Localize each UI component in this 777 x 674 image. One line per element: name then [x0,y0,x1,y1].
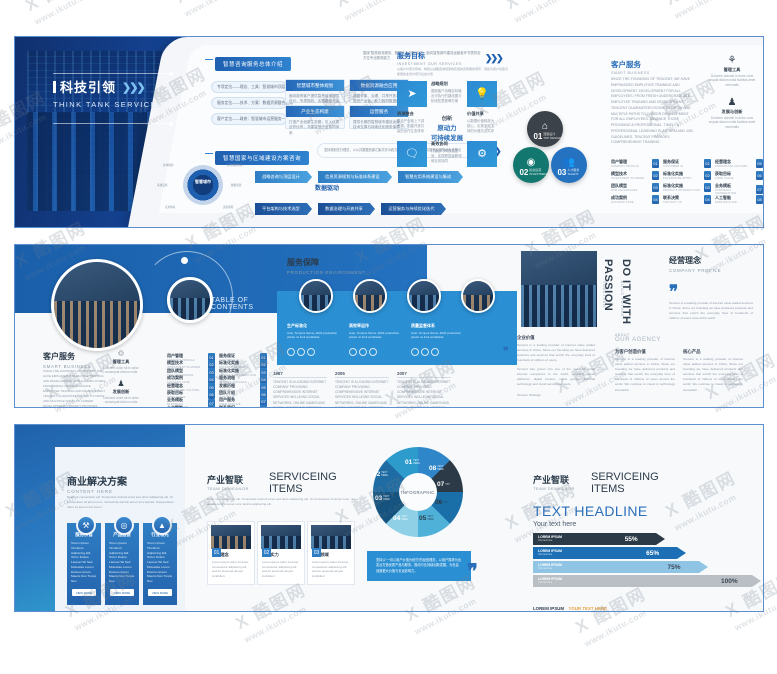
donut-label-06: 06TXT [435,499,448,506]
hub-node-2: 基础设施 [157,183,167,187]
agency-col2-title: 核心产品 [683,349,701,355]
goal-text-2: 高效协同打通部门间数据壁垒，实现跨层级跨领域业务协同 [431,141,463,164]
right-heading-cn: 产业智联 TEAM DEMEANOR [533,473,575,491]
hub-label: 智慧城市 [189,179,217,185]
list-item[interactable]: 经营理念CORPORATE CULTURE05 [715,159,763,168]
values-p2: Tencent has grown into one of the most i… [517,367,595,387]
hub-ring-outer [183,165,223,205]
chevrons-icon: ❯❯❯ [122,81,144,94]
hub-node-4: 应用体系 [165,205,175,209]
goal-card-0: ➤ [397,81,427,107]
band-item-2: 质量监督体系 Auto, Tempus Nams, 2022 productio… [411,323,463,361]
hero-rule-top [53,73,171,74]
production-photo-3 [461,279,495,313]
smart-icon-0: ♲ 管理工具 Dolorem dolor sit in dolor conseq… [99,349,143,375]
hero-accent-bar [53,81,56,93]
badge-02-label: 投资运营INVESTMENT [529,169,548,177]
badge-03: 👥 03 人才服务TALENT [551,147,587,183]
goals-lead: 以客户价值为导向，构建从战略咨询到落地实施的完整服务闭环，持续为客户创造可衡量的… [397,67,509,77]
slide-panel-3: 商业解决方案 CONTENT HERE Dolor sit consectetu… [14,424,764,612]
donut-label-07: 07TXT [437,481,450,488]
arrow-chip-2: 智慧应用系统建设与集成 [398,171,458,183]
arrow-chip-5: 运营服务与持续优化迭代 [381,203,441,215]
photo-card-badge-0: 01 [212,548,221,557]
vertical-slogan-small: BUILD FUTURE TOGETHER [595,281,631,327]
chart-footnote: LOREM IPSUM YOUR TEXT HERE "Lorem ipsum … [533,597,723,612]
year-block-0: 1987TENCENT IS A LEADING INTERNET COMPAN… [273,371,327,408]
solution-card-0: 服务宗旨 Torem Ipsum Tincidunt Adipiscing El… [67,523,101,605]
photo-card-2: 03 业务领域 Lorem ipsum dolor sit amet, cons… [307,521,355,585]
chart-bar: LOREM IPSUMYour text here55% [533,533,665,545]
donut-label-05: 05TEXTHERE [419,515,434,522]
hub-node-0: 总体规划 [163,163,173,167]
section1-pill-1: 服务定位——技术、方案：数据资源整合应用 [211,97,287,109]
agency-col1-title: 为客户创造价值 [615,349,646,355]
list-item[interactable]: 团队模型OUR ADVANTAGES03 [611,183,659,192]
list-item[interactable]: 模型技术INVESTMENT PLANNER02 [611,171,659,180]
production-heading: 服务保障 PRODUCTION ENVIRONMENT [287,257,366,275]
text-headline: TEXT HEADLINE Your text here [533,503,648,528]
company-profile-heading: 经营理念 COMPANY PROFILE [669,255,721,273]
photo-card-badge-2: 03 [312,548,321,557]
arrow-chip-3: 平台架构与技术选型 [255,203,307,215]
quote-mark-values: ❞ [503,349,509,356]
chart-bar-label: LOREM IPSUMYour text here [538,550,562,556]
badge-02: ◉ 02 投资运营INVESTMENT [513,147,549,183]
list-item[interactable]: 获取目标CORE VALUE06 [715,171,763,180]
values-p1: Tencent is a leading provider of interne… [517,343,595,363]
lightbulb-icon: 💡 [475,87,489,100]
section2-arrow-row-1: 战略咨询与顶层设计 信息资源规划与标准体系建设 智慧应用系统建设与集成 [255,165,458,183]
chart-bar-tip [699,561,708,573]
chart-bar: LOREM IPSUMYour text here75% [533,561,708,573]
people-icon: 👥 [563,157,575,168]
donut-label-02: 02TEXTHERE [373,471,388,478]
hub-node-3: 数据资源 [231,183,241,187]
badge-03-label: 人才服务TALENT [567,169,579,177]
agency-en-big: OUR AGENCY [615,337,661,343]
section1-tag: 智慧咨询服务总体介绍 [215,53,291,71]
network-icon: ⚘ [707,55,757,66]
arc-dot [181,257,188,264]
goals-heading: 服务目标 INVESTMENT OUR SERVICES [397,51,462,66]
night-city-photo [521,251,597,327]
production-photo-2 [407,279,441,313]
solution-card-1: 产品运营 Torem Ipsum Tincidunt Adipiscing El… [105,523,139,605]
watermark: X 酷图网www.ikutu.com [500,0,585,25]
smart-icon-1: ♟ 发展创新 Dolorem dolor sit in dolor conseq… [99,379,143,405]
donut-label-04: 04TEXTHERE [393,515,408,522]
chart-bar-tip [656,533,665,545]
customer-paragraph: SINCE THE FOUNDING OF TENCENT, WE HAVE E… [611,77,693,146]
section1-pill-2: 客户定位——政府：智慧城市运营服务一体化 [211,113,287,125]
chart-bar-value: 75% [668,564,681,571]
band-dots-0 [287,343,339,361]
hero-title-en: THINK TANK SERVICES [53,100,193,109]
chart-bar: LOREM IPSUMYour text here100% [533,575,761,587]
chart-bar: LOREM IPSUMYour text here65% [533,547,686,559]
home-icon: ⌂ [542,121,548,132]
chat-icon: 🗨 [405,147,419,160]
hero-title: 科技引领❯❯❯ THINK TANK SERVICES [53,77,193,109]
money-icon: ◉ [527,157,536,168]
chart-bar-value: 100% [721,578,738,585]
hub-node-5: 运营保障 [223,205,233,209]
goal-card-1: 💡 [467,81,497,107]
chart-bar-tip [752,575,761,587]
idea-icon: ♟ [99,379,143,388]
badge-01: ⌂ 01 顶层设计TOP DESIGN [527,111,563,147]
idea-icon: ♟ [707,97,757,108]
photo-card-badge-1: 02 [262,548,271,557]
quote-mark-icon: ❞ [467,567,478,578]
year-block-2: 2007TENCENT IS A LEADING INTERNET COMPAN… [397,371,451,408]
production-photo-0 [299,279,333,313]
band-item-0: 生产标准化 Auto, Tempus Nams, 2022 production… [287,323,339,361]
year-block-1: 2005TENCENT IS A LEADING INTERNET COMPAN… [335,371,389,408]
section1-pill-0: 专项定位——理念、工具：智慧城市顶层设计 [211,81,287,93]
agency-col2-p: Tencent is a leading provider of interne… [683,357,743,393]
chart-bar-label: LOREM IPSUMYour text here [538,578,562,584]
solution-lead: Dolor sit consectetur elit. Tempuslas do… [67,495,175,510]
quote-mark-profile: ❞ [669,287,678,297]
recycle-icon: ♲ [99,349,143,358]
donut-label-01: 01TEXTHERE [405,459,420,466]
hero-circle-photo-1 [51,259,143,351]
items-heading-en: SERVICEING ITEMS [269,471,337,495]
watermark: X 酷图网www.ikutu.com [660,0,745,21]
list-item[interactable]: 标准化实施ENTERPRISE SPIRIT02 [663,171,711,180]
section1-card-0: 智慧城市整体规划 面向政府客户提供智慧城市顶层设计、专项规划、实施路径与运营模式… [285,79,345,103]
chart-bar-tip [677,547,686,559]
goal-card-2: 🗨 [397,141,427,167]
goal-card-3: ⚙ [467,141,497,167]
company-profile-paragraph: Tencent is a leading provider of interne… [669,301,753,321]
section1-card-2: 产业生态构建 打造产业创新生态圈，引入优质合作伙伴，共建智慧产业协同体系 [285,105,345,129]
solution-card-2: 行业领先 Torem Ipsum Tincidunt Adipiscing El… [143,523,177,605]
list-item[interactable]: 联系我们CONTACT US08 [219,405,267,408]
goal-text-5: 价值共享以数据价值释放为核心，实现多方主体的价值共创共享 [467,111,497,134]
list-item[interactable]: 业务模板STRATEGIC COOPERATION07 [715,183,763,195]
table-of-contents-label: TABLE OF CONTENTS [211,297,254,312]
items-lead: Dolor sit consectetur elit. Tempuslas do… [207,497,357,507]
arrow-chip-1: 信息资源规划与标准体系建设 [318,171,386,183]
smart-business-paragraph: SINCE THE FOUNDING OF TENCENT, WE HAVE E… [43,369,107,408]
chart-bar-label: LOREM IPSUMYour text here [538,536,562,542]
list-item[interactable]: 服务保证CUSTOMER IN01 [663,159,711,168]
section1-chevrons-icon: ❯❯❯ [485,53,502,64]
agency-col1-p: Tencent is a leading provider of interne… [615,357,675,393]
target-icon: ◎ [114,515,134,535]
arrow-chip-4: 数据治理与开放共享 [318,203,370,215]
production-photo-1 [353,279,387,313]
list-item[interactable]: 人工智能SERVICE FLOW08 [167,405,215,408]
hero-rule-bottom [53,123,171,124]
goal-text-0: 战略规划围绕客户战略目标输出可执行的路线图与阶段性里程碑方案 [431,81,463,104]
values-sig: Tencent Holdings [517,393,567,398]
section2-arrow-row-2: 平台架构与技术选型 数据治理与开放共享 运营服务与持续优化迭代 [255,197,441,215]
goals-center-label: 创新 原动力 可持续发展 [429,115,465,142]
donut-label-08: 08TEXTHERE [429,465,444,472]
list-item[interactable]: 成功案例SUCCESS CASE04 [611,195,659,204]
customer-heading: 客户服务 SMART BUSINESS [611,59,650,75]
values-title: 企业价值 [517,335,535,341]
template-preview-page: 科技引领❯❯❯ THINK TANK SERVICES 智慧咨询服务总体介绍 围… [0,0,777,674]
section2-center-label: 数据驱动 [315,183,339,192]
band-dots-1 [349,343,401,361]
quote-box: 坚持以“一切以用户价值为依归”的经营理念，以用户需求为出发点打造优质产品与服务，… [367,551,471,581]
list-item[interactable]: 用户管理COMPANY PROFILE01 [611,159,659,168]
customer-icon-1: ♟ 发展与创新 Dolorem dolorsit in dolor cons s… [707,97,757,129]
cloud-icon: ▲ [152,515,172,535]
solution-heading: 商业解决方案 CONTENT HERE [67,473,127,494]
slide-panel-1: 科技引领❯❯❯ THINK TANK SERVICES 智慧咨询服务总体介绍 围… [14,36,764,228]
customer-icon-0: ⚘ 管理工具 Dolorem dolorsit in dolor cons se… [707,55,757,87]
watermark: X 酷图网www.ikutu.com [20,0,105,27]
list-item[interactable]: 联系决策CONTACT US04 [663,195,711,204]
wrench-icon: ⚒ [76,515,96,535]
chart-bar-value: 55% [625,536,638,543]
donut-center-label: INFOGRAPHIC [399,473,437,511]
watermark: X 酷图网www.ikutu.com [330,0,415,23]
chart-bar-value: 65% [646,550,659,557]
photo-card-1: 02 团队实力 Lorem ipsum dolor sit amet, cons… [257,521,305,585]
hub-node-1: 标准规范体系 [227,163,243,167]
band-dots-2 [411,343,463,361]
items-heading-cn: 产业智联 TEAM DEMEANOR [207,473,249,491]
arrow-chip-0: 战略咨询与顶层设计 [255,171,307,183]
donut-label-03: 03TEXTHERE [375,495,390,502]
slide-panel-2: TABLE OF CONTENTS 客户服务 SMART BUSINESS SI… [14,244,764,408]
right-heading-en: SERVICEING ITEMS [591,471,659,495]
list-item[interactable]: 标准化实施PRODUCT INTRODUCTION03 [663,183,711,192]
band-item-1: 高效率运作 Auto, Tempus Nams, 2022 production… [349,323,401,361]
badge-01-label: 顶层设计TOP DESIGN [543,133,561,141]
smart-business-heading: 客户服务 SMART BUSINESS [43,351,91,369]
hero-title-cn: 科技引领 [60,77,116,96]
gear-icon: ⚙ [477,147,487,160]
photo-card-0: 01 经营理念 Lorem ipsum dolor sit amet, cons… [207,521,255,585]
chart-bar-label: LOREM IPSUMYour text here [538,564,562,570]
goal-text-4: 资源整合整合产业链上下游资源，构建开放共赢的合作生态体系 [397,111,427,134]
watermark: X 酷图网www.ikutu.com [170,0,255,19]
paper-plane-icon: ➤ [407,87,416,100]
list-item[interactable]: 人工智能SERVICE FLOW08 [715,195,763,204]
